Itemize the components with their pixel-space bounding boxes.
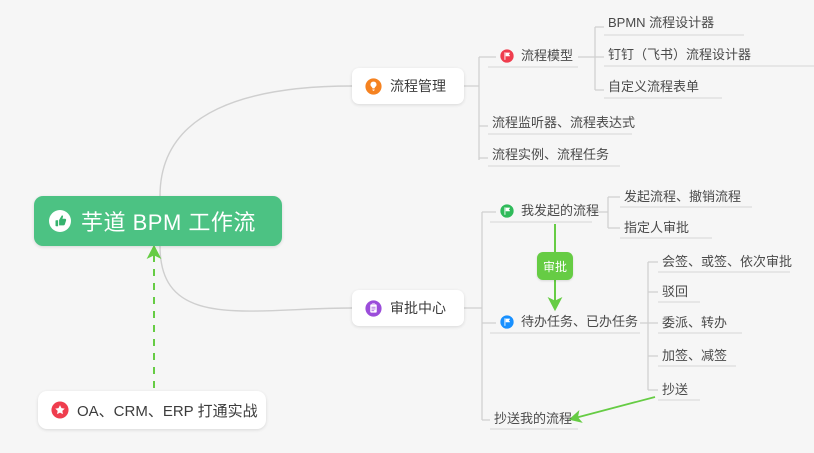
leaf-assignee-approval[interactable]: 指定人审批 — [618, 216, 695, 241]
branch-label-approval-center: 审批中心 — [390, 298, 446, 318]
leaf-reject[interactable]: 驳回 — [656, 280, 694, 305]
star-red-icon — [51, 401, 69, 419]
leaf-process-model[interactable]: 流程模型 — [494, 44, 579, 69]
lightbulb-icon — [365, 78, 382, 95]
flag-green-icon — [500, 204, 514, 218]
leaf-carbon-copy[interactable]: 抄送 — [656, 378, 694, 403]
thumbs-up-icon — [48, 209, 72, 233]
flag-red-icon — [500, 49, 514, 63]
leaf-custom-process-form[interactable]: 自定义流程表单 — [602, 75, 705, 100]
leaf-label-todo-done-tasks: 待办任务、已办任务 — [521, 313, 638, 330]
root-label: 芋道 BPM 工作流 — [81, 205, 256, 237]
approval-flow-badge[interactable]: 审批 — [537, 252, 573, 280]
leaf-process-listener-expression[interactable]: 流程监听器、流程表达式 — [486, 111, 641, 136]
leaf-delegate-transfer[interactable]: 委派、转办 — [656, 311, 733, 336]
leaf-my-started-process[interactable]: 我发起的流程 — [494, 199, 605, 224]
branch-label-process-management: 流程管理 — [390, 76, 446, 96]
leaf-todo-done-tasks[interactable]: 待办任务、已办任务 — [494, 310, 644, 335]
leaf-process-instance-task[interactable]: 流程实例、流程任务 — [486, 143, 615, 168]
leaf-add-remove-sign[interactable]: 加签、减签 — [656, 344, 733, 369]
approval-flow-badge-label: 审批 — [543, 258, 567, 275]
branch-node-process-management[interactable]: 流程管理 — [352, 68, 464, 104]
leaf-cc-my-process[interactable]: 抄送我的流程 — [488, 407, 578, 432]
flag-blue-icon — [500, 315, 514, 329]
mindmap-canvas: 芋道 BPM 工作流 流程管理 审批中心 — [0, 0, 814, 453]
leaf-countersign[interactable]: 会签、或签、依次审批 — [656, 250, 798, 275]
leaf-label-process-model: 流程模型 — [521, 47, 573, 64]
branch-node-approval-center[interactable]: 审批中心 — [352, 290, 464, 326]
node-integration-practice[interactable]: OA、CRM、ERP 打通实战 — [38, 391, 266, 429]
leaf-dingtalk-feishu-designer[interactable]: 钉钉（飞书）流程设计器 — [602, 43, 757, 68]
clipboard-icon — [365, 300, 382, 317]
leaf-label-my-started-process: 我发起的流程 — [521, 202, 599, 219]
node-integration-practice-label: OA、CRM、ERP 打通实战 — [77, 400, 258, 421]
root-node[interactable]: 芋道 BPM 工作流 — [34, 196, 282, 246]
leaf-start-cancel-process[interactable]: 发起流程、撤销流程 — [618, 185, 747, 210]
leaf-bpmn-designer[interactable]: BPMN 流程设计器 — [602, 11, 720, 36]
